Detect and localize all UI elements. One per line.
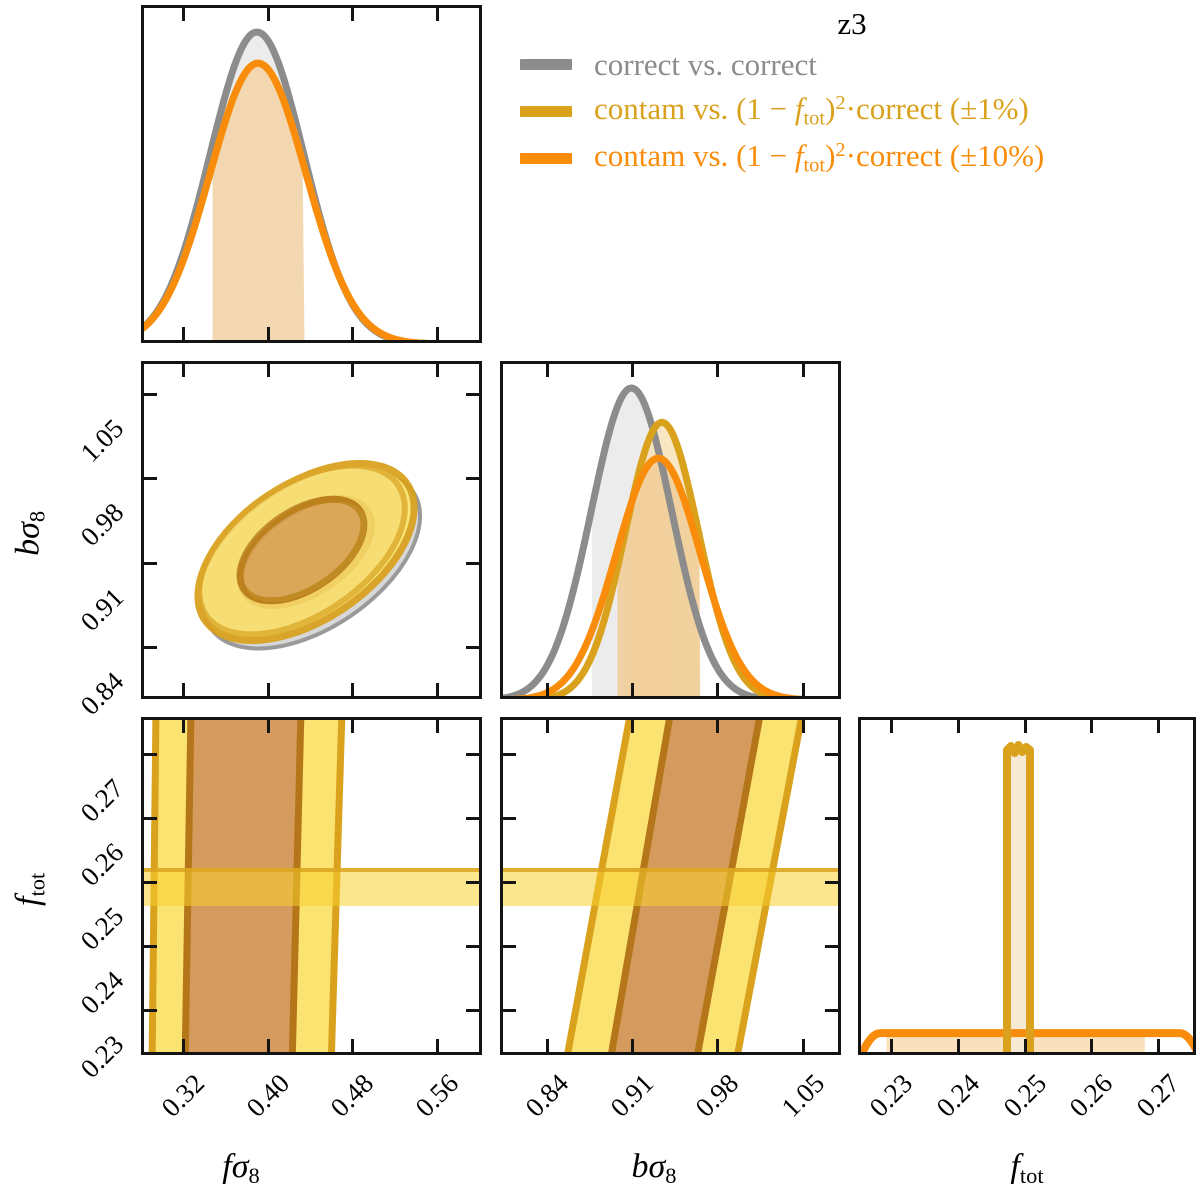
tick-left xyxy=(144,945,157,948)
plot-area-fsigma8-marginal xyxy=(144,8,482,343)
yaxis-title-bsigma8: bσ8 xyxy=(10,463,51,603)
plot-area-bsigma8-marginal xyxy=(503,364,841,699)
tick-bottom xyxy=(267,327,270,340)
tick-bottom xyxy=(436,683,439,696)
legend-title: z3 xyxy=(572,8,1132,41)
legend-var-sub-1pct: tot xyxy=(804,108,826,130)
corner-plot-figure: z3 correct vs. correct contam vs. (1 − f… xyxy=(0,0,1200,1200)
xtick-fsigma8-0.48: 0.48 xyxy=(287,1068,380,1161)
ftot-strip-gold xyxy=(144,868,482,906)
tick-top xyxy=(546,364,549,377)
xtick-bsigma8-1.05: 1.05 xyxy=(738,1068,831,1161)
legend-prefix-1pct: contam vs. xyxy=(594,91,736,126)
legend-paren-open-10pct: (1 − xyxy=(736,138,795,173)
tick-right xyxy=(466,646,479,649)
xtick-bsigma8-0.84: 0.84 xyxy=(482,1068,575,1161)
tick-right xyxy=(466,477,479,480)
tick-left xyxy=(144,393,157,396)
tick-left xyxy=(503,753,516,756)
xaxis-title-bsigma8: bσ8 xyxy=(632,1148,677,1189)
tick-bottom xyxy=(631,1039,634,1052)
tick-bottom xyxy=(436,1039,439,1052)
panel-fsigma8-ftot-contour[interactable] xyxy=(141,717,482,1055)
tick-top xyxy=(890,720,893,733)
yaxis-title-ftot-var: f xyxy=(10,897,47,906)
tick-top xyxy=(267,364,270,377)
tick-bottom xyxy=(957,1039,960,1052)
legend-var-sub-10pct: tot xyxy=(804,155,826,177)
tick-bottom xyxy=(546,1039,549,1052)
tick-bottom xyxy=(890,1039,893,1052)
tick-bottom xyxy=(351,327,354,340)
tick-right xyxy=(825,881,838,884)
legend-item-contam-1pct[interactable]: contam vs. (1 − ftot)2·correct (±1%) xyxy=(520,88,1192,135)
tick-left xyxy=(144,1009,157,1012)
plot-area-fsigma8-bsigma8 xyxy=(144,364,482,699)
tick-top xyxy=(1090,720,1093,733)
xtick-bsigma8-0.98: 0.98 xyxy=(652,1068,745,1161)
tick-top xyxy=(436,364,439,377)
xtick-fsigma8-0.56: 0.56 xyxy=(372,1068,465,1161)
tick-bottom xyxy=(716,683,719,696)
xaxis-title-fsigma8: fσ8 xyxy=(222,1148,259,1189)
tick-bottom xyxy=(182,327,185,340)
tick-top xyxy=(802,364,805,377)
tick-top xyxy=(351,720,354,733)
tick-top xyxy=(436,8,439,21)
legend-power-10pct: 2 xyxy=(835,139,845,161)
xtick-fsigma8-0.32: 0.32 xyxy=(118,1068,211,1161)
tick-right xyxy=(825,1009,838,1012)
tick-left xyxy=(503,1009,516,1012)
tick-left xyxy=(144,881,157,884)
plot-area-bsigma8-ftot xyxy=(503,720,841,1055)
yaxis-title-ftot-sub: tot xyxy=(24,873,49,897)
tick-top xyxy=(631,720,634,733)
tick-top xyxy=(351,364,354,377)
tick-left xyxy=(144,477,157,480)
xaxis-title-ftot: ftot xyxy=(1010,1148,1043,1189)
tick-bottom xyxy=(716,1039,719,1052)
legend-label-contam-1pct: contam vs. (1 − ftot)2·correct (±1%) xyxy=(594,93,1029,129)
tick-top xyxy=(957,720,960,733)
tick-left xyxy=(503,881,516,884)
panel-bsigma8-marginal[interactable] xyxy=(500,361,841,699)
tick-bottom xyxy=(1090,1039,1093,1052)
xaxis-title-bsigma8-sub: 8 xyxy=(665,1163,676,1188)
legend-paren-close-10pct: ) xyxy=(825,138,835,173)
legend-var-10pct: f xyxy=(795,138,804,173)
tick-left xyxy=(144,817,157,820)
plot-area-fsigma8-ftot xyxy=(144,720,482,1055)
legend-swatch-orange xyxy=(520,153,572,164)
tick-right xyxy=(825,753,838,756)
tick-bottom xyxy=(802,1039,805,1052)
tick-right xyxy=(466,753,479,756)
legend: z3 correct vs. correct contam vs. (1 − f… xyxy=(520,8,1192,182)
ftot-strip-gold xyxy=(503,868,841,906)
panel-fsigma8-bsigma8-contour[interactable] xyxy=(141,361,482,699)
tick-top xyxy=(351,8,354,21)
tick-bottom xyxy=(1157,1039,1160,1052)
xaxis-title-bsigma8-sigma: σ xyxy=(649,1148,666,1185)
legend-paren-open-1pct: (1 − xyxy=(736,91,795,126)
tick-bottom xyxy=(436,327,439,340)
tick-bottom xyxy=(267,683,270,696)
tick-top xyxy=(182,364,185,377)
xtick-fsigma8-0.40: 0.40 xyxy=(203,1068,296,1161)
tick-top xyxy=(631,364,634,377)
tick-right xyxy=(466,393,479,396)
legend-item-contam-10pct[interactable]: contam vs. (1 − ftot)2·correct (±10%) xyxy=(520,135,1192,182)
yaxis-title-ftot: ftot xyxy=(10,819,51,959)
tick-top xyxy=(546,720,549,733)
tick-right xyxy=(825,817,838,820)
plot-area-ftot-marginal xyxy=(861,720,1196,1055)
xtick-bsigma8-0.91: 0.91 xyxy=(567,1068,660,1161)
xaxis-title-ftot-sub: tot xyxy=(1020,1163,1044,1188)
legend-label-correct: correct vs. correct xyxy=(594,49,817,80)
tick-top xyxy=(716,720,719,733)
tick-right xyxy=(466,1009,479,1012)
tick-left xyxy=(144,562,157,565)
tick-right xyxy=(466,817,479,820)
panel-bsigma8-ftot-contour[interactable] xyxy=(500,717,841,1055)
ftot-strip-edge-top xyxy=(503,868,841,872)
xaxis-title-fsigma8-sigma: σ xyxy=(232,1148,249,1185)
legend-label-contam-10pct: contam vs. (1 − ftot)2·correct (±10%) xyxy=(594,140,1044,176)
tick-left xyxy=(503,817,516,820)
tick-top xyxy=(1024,720,1027,733)
tick-right xyxy=(825,945,838,948)
legend-item-correct[interactable]: correct vs. correct xyxy=(520,41,1192,88)
tick-right xyxy=(466,881,479,884)
tick-top xyxy=(182,8,185,21)
legend-swatch-gray xyxy=(520,59,572,70)
tick-bottom xyxy=(1024,1039,1027,1052)
tick-top xyxy=(267,720,270,733)
tick-top xyxy=(802,720,805,733)
tick-bottom xyxy=(182,683,185,696)
tick-top xyxy=(1157,720,1160,733)
tick-top xyxy=(436,720,439,733)
yaxis-title-bsigma8-sigma: σ xyxy=(10,522,47,539)
legend-tail-1pct: (±1%) xyxy=(950,91,1029,126)
legend-paren-close-1pct: ) xyxy=(825,91,835,126)
panel-fsigma8-marginal[interactable] xyxy=(141,5,482,343)
tick-right xyxy=(466,562,479,565)
legend-mid-10pct: ·correct xyxy=(846,138,950,173)
tick-right xyxy=(466,945,479,948)
xaxis-title-fsigma8-sub: 8 xyxy=(249,1163,260,1188)
tick-bottom xyxy=(546,683,549,696)
tick-bottom xyxy=(631,683,634,696)
legend-mid-1pct: ·correct xyxy=(846,91,950,126)
yaxis-title-bsigma8-var: b xyxy=(10,539,47,556)
panel-ftot-marginal[interactable] xyxy=(858,717,1196,1055)
legend-swatch-gold xyxy=(520,106,572,117)
tick-bottom xyxy=(182,1039,185,1052)
legend-var-1pct: f xyxy=(795,91,804,126)
tick-bottom xyxy=(351,1039,354,1052)
tick-left xyxy=(144,646,157,649)
tick-left xyxy=(503,945,516,948)
tick-bottom xyxy=(802,683,805,696)
legend-tail-10pct: (±10%) xyxy=(950,138,1044,173)
tick-bottom xyxy=(267,1039,270,1052)
legend-prefix-10pct: contam vs. xyxy=(594,138,736,173)
tick-top xyxy=(716,364,719,377)
yaxis-title-bsigma8-sub: 8 xyxy=(24,511,49,522)
tick-bottom xyxy=(351,683,354,696)
tick-top xyxy=(182,720,185,733)
tick-left xyxy=(144,753,157,756)
ftot-strip-edge-top xyxy=(144,868,482,872)
tick-top xyxy=(267,8,270,21)
xaxis-title-bsigma8-var: b xyxy=(632,1148,649,1185)
legend-power-1pct: 2 xyxy=(835,92,845,114)
